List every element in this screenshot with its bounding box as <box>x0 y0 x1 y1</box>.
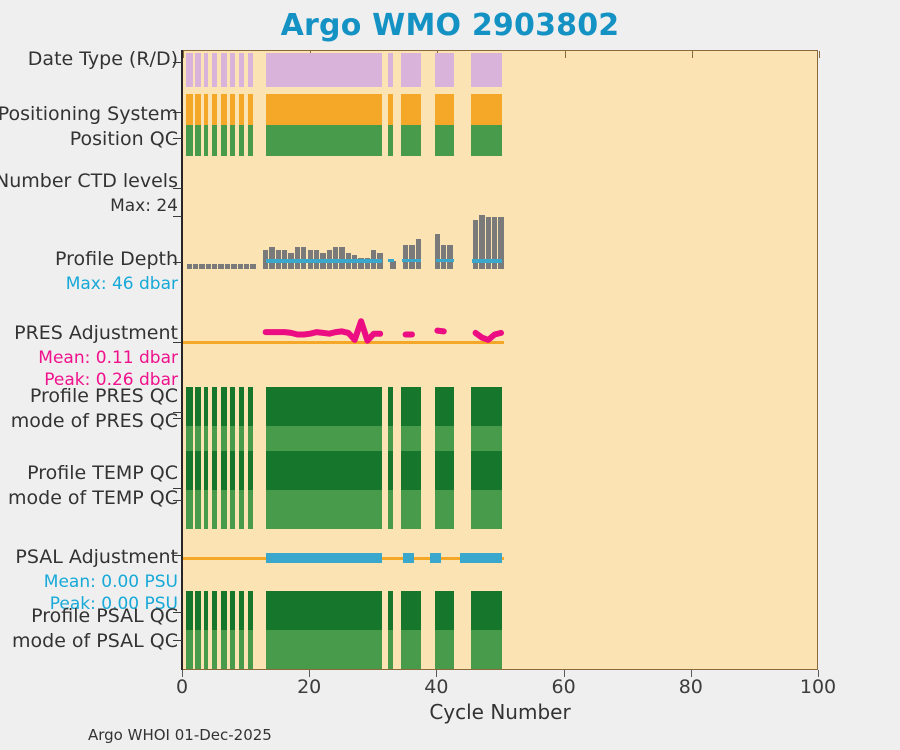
pres-adjustment-trace <box>183 305 819 371</box>
block-profile-psal-qc-bottom <box>401 630 421 669</box>
x-tick-label: 0 <box>152 676 212 698</box>
block-profile-psal-qc-top <box>388 591 392 630</box>
y-tick <box>173 418 182 419</box>
block-profile-temp-qc-top <box>195 451 201 490</box>
block-profile-pres-qc-top <box>204 387 208 426</box>
block-positioning-system-top <box>204 94 208 125</box>
row-label-pres-adjustment-sub1: Mean: 0.11 dbar <box>0 347 178 370</box>
block-profile-psal-qc-top <box>230 591 235 630</box>
block-positioning-system-top <box>195 94 201 125</box>
ctd-level-bar <box>212 264 217 269</box>
block-profile-pres-qc-top <box>230 387 235 426</box>
block-profile-temp-qc-bottom <box>435 490 454 529</box>
block-profile-temp-qc-bottom <box>212 490 217 529</box>
ctd-level-bar <box>206 264 211 269</box>
block-profile-temp-qc-top <box>230 451 235 490</box>
ctd-level-bar <box>225 264 230 269</box>
block-profile-temp-qc-bottom <box>230 490 235 529</box>
block-profile-psal-qc-top <box>435 591 454 630</box>
x-tick-label: 60 <box>534 676 594 698</box>
block-profile-psal-qc-top <box>248 591 253 630</box>
block-profile-psal-qc-bottom <box>195 630 201 669</box>
ctd-level-bar <box>187 264 192 269</box>
block-profile-temp-qc-top <box>471 451 502 490</box>
block-profile-temp-qc-top <box>266 451 382 490</box>
y-tick <box>173 342 182 343</box>
block-profile-temp-qc-bottom <box>471 490 502 529</box>
figure-canvas: Argo WMO 2903802 Date Type (R/D)Position… <box>0 0 900 750</box>
block-positioning-system-bottom <box>388 125 392 156</box>
psal-adjustment-line <box>266 553 382 563</box>
row-label-psal-adjustment: PSAL Adjustment <box>0 546 178 569</box>
block-profile-temp-qc-top <box>248 451 253 490</box>
block-profile-temp-qc-bottom <box>195 490 201 529</box>
block-positioning-system-top <box>471 94 502 125</box>
x-tick-label: 40 <box>406 676 466 698</box>
block-profile-pres-qc-top <box>221 387 227 426</box>
block-profile-temp-qc-bottom <box>186 490 192 529</box>
block-profile-pres-qc-top <box>401 387 421 426</box>
block-profile-psal-qc-bottom <box>435 630 454 669</box>
block-profile-psal-qc-bottom <box>239 630 244 669</box>
block-positioning-system-bottom <box>212 125 217 156</box>
block-date-type <box>186 53 192 87</box>
x-tick-top <box>183 51 184 58</box>
block-profile-pres-qc-top <box>388 387 392 426</box>
row-label-profile-pres-qc-sub1: mode of PRES QC <box>0 410 178 433</box>
block-profile-temp-qc-bottom <box>248 490 253 529</box>
row-label-date-type: Date Type (R/D) <box>0 48 178 71</box>
block-profile-psal-qc-top <box>212 591 217 630</box>
footer-credit: Argo WHOI 01-Dec-2025 <box>88 726 272 744</box>
y-tick <box>173 412 182 413</box>
row-label-psal-adjustment-sub1: Mean: 0.00 PSU <box>0 571 178 594</box>
ctd-level-bar <box>416 239 421 269</box>
block-profile-pres-qc-top <box>186 387 192 426</box>
ctd-level-bar <box>435 234 440 269</box>
x-tick-top <box>692 51 693 58</box>
block-profile-temp-qc-bottom <box>204 490 208 529</box>
profile-depth-line <box>436 259 454 262</box>
ctd-level-bar <box>403 245 408 269</box>
y-tick <box>173 62 182 63</box>
block-date-type <box>266 53 382 87</box>
block-positioning-system-bottom <box>471 125 502 156</box>
ctd-level-bar <box>193 264 198 269</box>
y-tick <box>173 555 182 556</box>
x-tick-top <box>819 51 820 58</box>
ctd-level-bar <box>447 245 452 269</box>
block-profile-pres-qc-top <box>212 387 217 426</box>
y-tick <box>173 262 182 263</box>
block-profile-psal-qc-bottom <box>212 630 217 669</box>
block-date-type <box>239 53 244 87</box>
block-profile-psal-qc-top <box>239 591 244 630</box>
block-date-type <box>248 53 253 87</box>
block-profile-pres-qc-top <box>248 387 253 426</box>
row-label-number-ctd-levels: Number CTD levels <box>0 170 178 193</box>
block-profile-pres-qc-top <box>195 387 201 426</box>
block-profile-psal-qc-top <box>221 591 227 630</box>
y-tick <box>173 640 182 641</box>
block-profile-temp-qc-top <box>239 451 244 490</box>
y-tick <box>173 500 182 501</box>
profile-depth-line <box>472 259 503 263</box>
row-label-profile-psal-qc-sub1: mode of PSAL QC <box>0 630 178 653</box>
block-date-type <box>212 53 217 87</box>
row-label-profile-temp-qc: Profile TEMP QC <box>0 462 178 485</box>
y-tick <box>173 112 182 113</box>
block-positioning-system-bottom <box>195 125 201 156</box>
profile-depth-line <box>266 259 382 263</box>
block-date-type <box>388 53 392 87</box>
block-positioning-system-bottom <box>230 125 235 156</box>
row-label-number-ctd-levels-sub1: Max: 24 <box>0 195 178 218</box>
ctd-level-bar <box>231 264 236 269</box>
block-profile-psal-qc-bottom <box>388 630 392 669</box>
block-positioning-system-top <box>239 94 244 125</box>
block-profile-psal-qc-top <box>471 591 502 630</box>
block-positioning-system-top <box>186 94 192 125</box>
profile-depth-line <box>388 259 394 262</box>
block-positioning-system-bottom <box>221 125 227 156</box>
ctd-level-bar <box>218 264 223 269</box>
block-positioning-system-bottom <box>186 125 192 156</box>
block-profile-psal-qc-top <box>195 591 201 630</box>
psal-adjustment-line <box>460 553 502 563</box>
block-positioning-system-bottom <box>204 125 208 156</box>
block-profile-temp-qc-bottom <box>388 490 392 529</box>
block-positioning-system-bottom <box>239 125 244 156</box>
block-positioning-system-top <box>401 94 421 125</box>
block-profile-pres-qc-top <box>471 387 502 426</box>
x-tick-label: 80 <box>661 676 721 698</box>
y-tick <box>173 488 182 489</box>
block-profile-temp-qc-top <box>435 451 454 490</box>
y-tick <box>173 138 182 139</box>
block-profile-psal-qc-bottom <box>221 630 227 669</box>
block-profile-temp-qc-top <box>212 451 217 490</box>
block-profile-psal-qc-bottom <box>204 630 208 669</box>
block-positioning-system-top <box>248 94 253 125</box>
block-profile-pres-qc-top <box>239 387 244 426</box>
block-profile-temp-qc-bottom <box>221 490 227 529</box>
x-tick-group <box>182 670 818 678</box>
x-tick-label: 100 <box>788 676 848 698</box>
row-label-profile-depth: Profile Depth <box>0 248 178 271</box>
block-date-type <box>230 53 235 87</box>
block-profile-temp-qc-bottom <box>239 490 244 529</box>
block-positioning-system-top <box>435 94 454 125</box>
row-label-profile-pres-qc: Profile PRES QC <box>0 385 178 408</box>
block-positioning-system-top <box>266 94 382 125</box>
row-label-profile-psal-qc: Profile PSAL QC <box>0 605 178 628</box>
row-label-pres-adjustment: PRES Adjustment <box>0 322 178 345</box>
ctd-level-bar <box>244 264 249 269</box>
block-profile-psal-qc-top <box>186 591 192 630</box>
block-profile-temp-qc-top <box>221 451 227 490</box>
block-date-type <box>471 53 502 87</box>
block-profile-psal-qc-top <box>401 591 421 630</box>
row-label-positioning-system: Positioning System <box>0 103 178 126</box>
ctd-level-bar <box>390 261 395 269</box>
block-date-type <box>435 53 454 87</box>
block-profile-temp-qc-top <box>186 451 192 490</box>
x-axis-title: Cycle Number <box>182 700 818 724</box>
block-profile-psal-qc-bottom <box>266 630 382 669</box>
block-positioning-system-top <box>221 94 227 125</box>
psal-adjustment-line <box>430 553 441 563</box>
block-profile-pres-qc-top <box>435 387 454 426</box>
y-tick <box>173 216 182 217</box>
x-tick-top <box>565 51 566 58</box>
block-positioning-system-bottom <box>435 125 454 156</box>
block-positioning-system-bottom <box>248 125 253 156</box>
block-positioning-system-bottom <box>401 125 421 156</box>
profile-depth-line <box>402 259 421 262</box>
block-date-type <box>195 53 201 87</box>
psal-adjustment-line <box>403 553 414 563</box>
x-tick-label: 20 <box>279 676 339 698</box>
ctd-level-bar <box>409 245 414 269</box>
block-profile-psal-qc-top <box>266 591 382 630</box>
block-positioning-system-bottom <box>266 125 382 156</box>
block-positioning-system-top <box>388 94 392 125</box>
y-axis-line <box>181 50 183 670</box>
block-positioning-system-top <box>212 94 217 125</box>
ctd-level-bar <box>441 245 446 269</box>
block-profile-temp-qc-top <box>401 451 421 490</box>
block-profile-psal-qc-top <box>204 591 208 630</box>
block-positioning-system-top <box>230 94 235 125</box>
block-date-type <box>221 53 227 87</box>
block-profile-psal-qc-bottom <box>230 630 235 669</box>
block-profile-temp-qc-top <box>388 451 392 490</box>
y-tick <box>173 188 182 189</box>
page-title: Argo WMO 2903802 <box>0 8 900 43</box>
block-profile-psal-qc-bottom <box>186 630 192 669</box>
row-label-profile-temp-qc-sub1: mode of TEMP QC <box>0 487 178 510</box>
block-profile-temp-qc-bottom <box>401 490 421 529</box>
ctd-level-bar <box>199 264 204 269</box>
block-profile-temp-qc-top <box>204 451 208 490</box>
block-profile-psal-qc-bottom <box>248 630 253 669</box>
block-profile-pres-qc-top <box>266 387 382 426</box>
block-date-type <box>401 53 421 87</box>
ctd-level-bar <box>238 264 243 269</box>
row-label-profile-depth-sub1: Max: 46 dbar <box>0 273 178 296</box>
block-date-type <box>204 53 208 87</box>
block-profile-temp-qc-bottom <box>266 490 382 529</box>
y-tick <box>173 612 182 613</box>
plot-area[interactable] <box>182 50 818 670</box>
block-profile-psal-qc-bottom <box>471 630 502 669</box>
row-label-positioning-system-sub1: Position QC <box>0 128 178 151</box>
ctd-level-bar <box>250 264 255 269</box>
